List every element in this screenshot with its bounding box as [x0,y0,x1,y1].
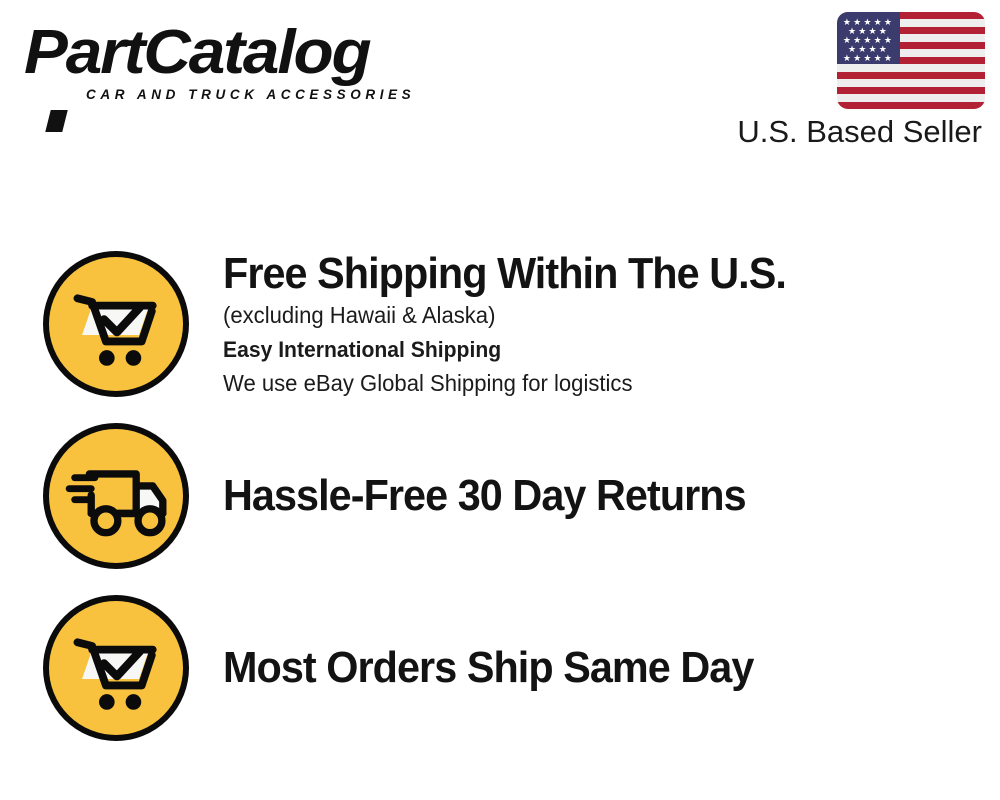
delivery-truck-icon [43,423,189,569]
shopping-cart-check-icon [43,251,189,397]
feature-text-same-day-ship: Most Orders Ship Same Day [223,643,1000,693]
feature-title: Most Orders Ship Same Day [223,643,935,693]
brand-logo[interactable]: PartCatalog CAR AND TRUCK ACCESSORIES [24,22,494,103]
shopping-cart-check-icon [43,595,189,741]
feature-text-free-shipping: Free Shipping Within The U.S. (excluding… [223,249,1000,399]
us-based-seller-label: U.S. Based Seller [715,114,982,150]
feature-subtitle-exclusions: (excluding Hawaii & Alaska) [223,299,950,331]
page-header: PartCatalog CAR AND TRUCK ACCESSORIES ★★… [0,0,1000,175]
us-based-seller-badge: ★★★★★ ★★★★ ★★★★★ ★★★★ ★★★★★ U.S. Based S… [715,12,985,150]
feature-subtitle-international: Easy International Shipping [223,333,950,367]
us-flag-icon: ★★★★★ ★★★★ ★★★★★ ★★★★ ★★★★★ [837,12,985,109]
feature-subtitle-logistics: We use eBay Global Shipping for logistic… [223,367,950,399]
brand-wordmark: PartCatalog [24,22,522,84]
feature-title: Free Shipping Within The U.S. [223,249,935,299]
brand-tagline: CAR AND TRUCK ACCESSORIES [86,87,494,103]
brand-slash-mark [45,110,67,132]
feature-title: Hassle-Free 30 Day Returns [223,471,935,521]
feature-row-free-shipping: Free Shipping Within The U.S. (excluding… [0,238,1000,410]
feature-list: Free Shipping Within The U.S. (excluding… [0,238,1000,754]
feature-row-same-day-ship: Most Orders Ship Same Day [0,582,1000,754]
feature-row-returns: Hassle-Free 30 Day Returns [0,410,1000,582]
feature-text-returns: Hassle-Free 30 Day Returns [223,471,1000,521]
flag-star-row: ★★★★★ [837,54,900,63]
